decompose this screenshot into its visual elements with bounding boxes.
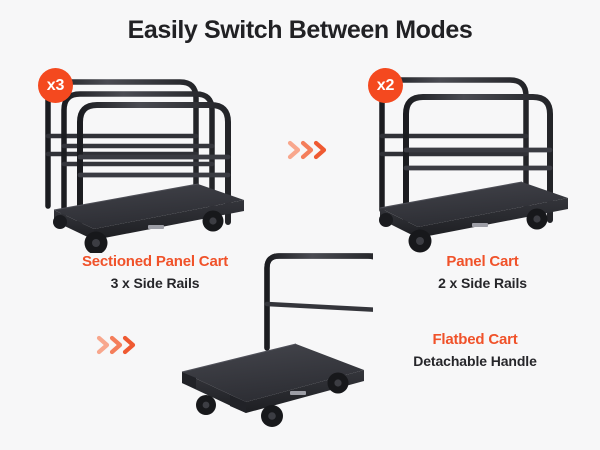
caster-wheel-rear-right xyxy=(328,373,349,394)
caster-wheel-front-left xyxy=(409,230,432,253)
caster-wheel-rear-left xyxy=(379,213,393,227)
chevron-right-icon-1 xyxy=(290,143,298,157)
badge-rail-count-x2: x2 xyxy=(368,68,403,103)
badge-rail-count-x3: x3 xyxy=(38,68,73,103)
caption-panel-cart: Panel Cart 2 x Side Rails xyxy=(375,252,590,293)
caster-wheel-front-left xyxy=(196,395,216,415)
caption-title-flatbed-cart: Flatbed Cart xyxy=(360,330,590,350)
caster-wheel-rear-left xyxy=(53,215,67,229)
brand-logo-plate xyxy=(472,223,488,227)
page-title: Easily Switch Between Modes xyxy=(0,16,600,45)
product-image-flatbed-cart xyxy=(168,252,373,432)
caster-wheel-front-right xyxy=(527,209,548,230)
caption-flatbed-cart: Flatbed Cart Detachable Handle xyxy=(360,330,590,371)
caster-wheel-front-center xyxy=(261,405,283,427)
chevron-right-icon-1 xyxy=(99,338,107,352)
brand-logo-plate xyxy=(290,391,306,395)
badge-x2-label: x2 xyxy=(377,77,394,95)
caption-subtitle-flatbed-cart: Detachable Handle xyxy=(360,351,590,371)
infographic-canvas: Easily Switch Between Modes xyxy=(0,0,600,450)
chevron-right-icon-3 xyxy=(125,338,133,352)
chevron-right-icon-2 xyxy=(303,143,311,157)
brand-logo-plate xyxy=(148,225,164,229)
arrow-sectioned-to-panel xyxy=(287,139,331,161)
caption-subtitle-panel-cart: 2 x Side Rails xyxy=(375,273,590,293)
badge-x3-label: x3 xyxy=(47,77,64,95)
chevron-right-icon-3 xyxy=(316,143,324,157)
caster-wheel-front-right xyxy=(203,211,224,232)
chevron-right-icon-2 xyxy=(112,338,120,352)
arrow-panel-to-flatbed xyxy=(96,334,140,356)
caption-title-panel-cart: Panel Cart xyxy=(375,252,590,272)
